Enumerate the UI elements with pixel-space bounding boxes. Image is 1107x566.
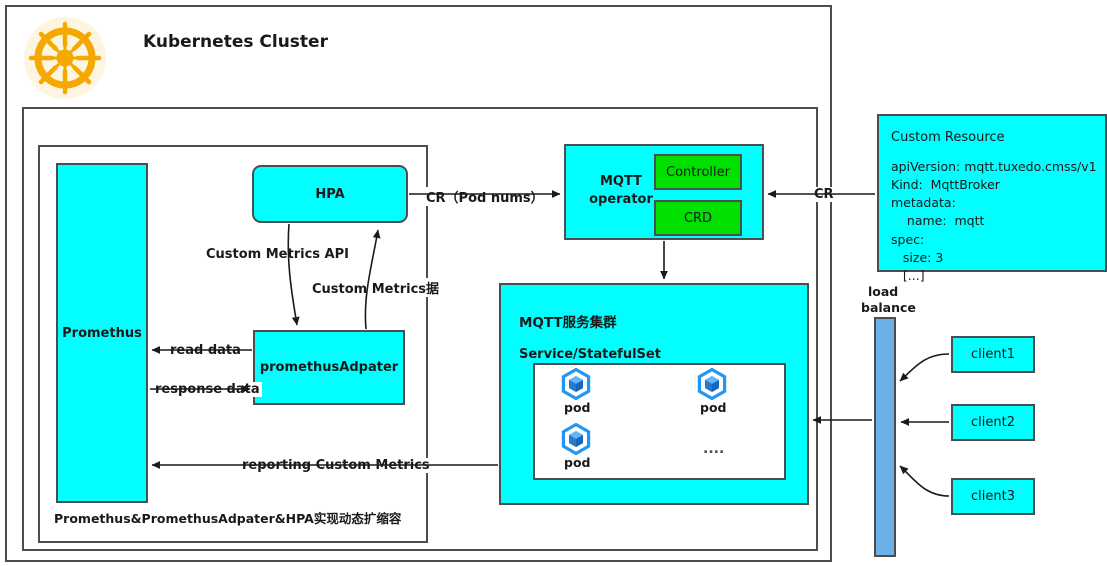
operator-crd-node[interactable]: CRD [654, 200, 742, 236]
client-label-2: client2 [971, 415, 1015, 430]
diagram-canvas: Kubernetes Cluster Promethus&PromethusAd… [0, 0, 1107, 566]
cluster-title: Kubernetes Cluster [143, 33, 328, 53]
mqtt-operator-label-line2: operator [578, 192, 664, 207]
statefulset-subtitle: Service/StatefulSet [519, 347, 661, 362]
operator-controller-node[interactable]: Controller [654, 154, 742, 190]
edge-label-custom-metrics-api: Custom Metrics API [204, 247, 351, 262]
edge-label-reporting-custom-metrics: reporting Custom Metrics [240, 458, 432, 473]
edge-label-response-data: response data [153, 382, 262, 397]
operator-crd-label: CRD [684, 211, 712, 226]
mqtt-service-cluster-title: MQTT服务集群 [519, 311, 617, 331]
edge-label-read-data: read data [168, 343, 243, 358]
prometheus-label: Promethus [62, 326, 142, 341]
autoscaling-group-caption: Promethus&PromethusAdpater&HPA实现动态扩缩容 [54, 512, 401, 526]
custom-resource-node[interactable]: Custom Resource apiVersion: mqtt.tuxedo.… [877, 114, 1107, 272]
custom-resource-title: Custom Resource [891, 130, 1005, 145]
edge-label-custom-metrics-data: Custom Metrics据 [310, 278, 441, 297]
client-node-2[interactable]: client2 [951, 404, 1035, 441]
mqtt-operator-label-line1: MQTT [578, 174, 664, 189]
custom-resource-yaml: apiVersion: mqtt.tuxedo.cmss/v1 Kind: Mq… [891, 158, 1097, 285]
prometheus-node[interactable]: Promethus [56, 163, 148, 503]
load-balance-bar[interactable] [874, 317, 896, 557]
kubernetes-logo-badge [24, 17, 106, 99]
prometheus-adapter-label: promethusAdpater [260, 360, 398, 375]
edge-label-cr-right: CR [812, 187, 836, 202]
pod-label-1: pod [564, 400, 590, 415]
client-node-3[interactable]: client3 [951, 478, 1035, 515]
load-balance-label-line1: load [868, 285, 898, 299]
pod-label-3: pod [564, 455, 590, 470]
pods-ellipsis: .... [703, 441, 724, 457]
edge-label-cr-pod-nums: CR（Pod nums） [424, 187, 546, 206]
prometheus-adapter-node[interactable]: promethusAdpater [253, 330, 405, 405]
client-label-3: client3 [971, 489, 1015, 504]
operator-controller-label: Controller [666, 165, 730, 180]
load-balance-label-line2: balance [861, 301, 916, 315]
client-label-1: client1 [971, 347, 1015, 362]
hpa-node[interactable]: HPA [252, 165, 408, 223]
pod-label-2: pod [700, 400, 726, 415]
client-node-1[interactable]: client1 [951, 336, 1035, 373]
hpa-label: HPA [315, 187, 344, 202]
